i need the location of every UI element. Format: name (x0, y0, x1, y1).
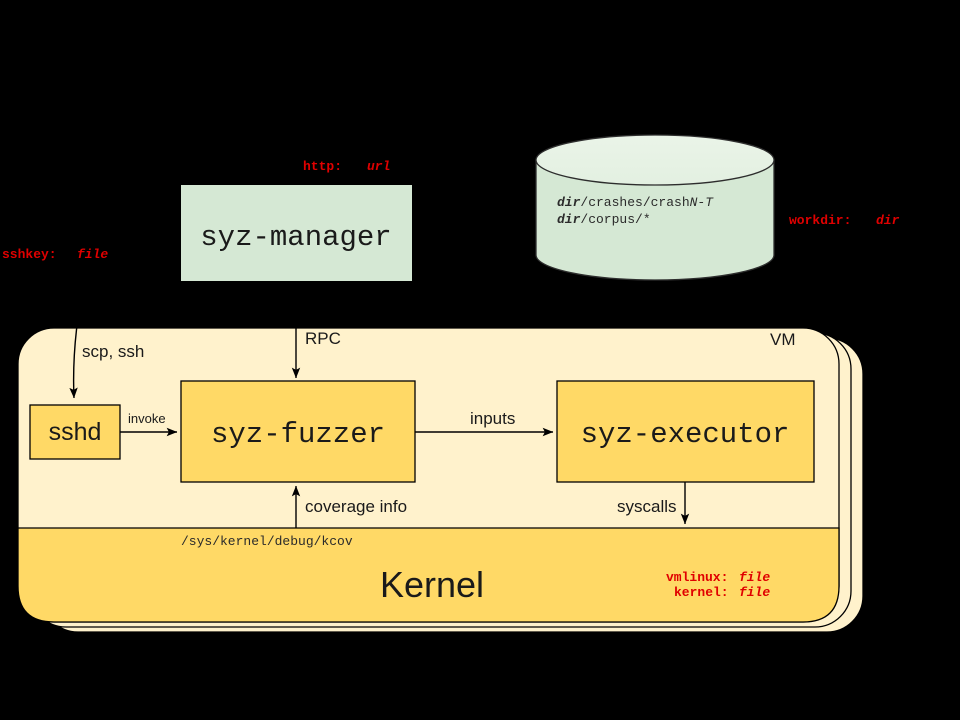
syz-manager-label: syz-manager (200, 221, 391, 254)
cylinder-top (536, 135, 774, 185)
workdir-corpus-line: dir/corpus/* (557, 212, 651, 227)
edge-inputs-label: inputs (470, 409, 515, 428)
diagram-canvas: /sys/kernel/debug/kcov Kernel vmlinux: f… (0, 0, 960, 720)
edge-syscalls-label: syscalls (617, 497, 677, 516)
workdir-crashes-line: dir/crashes/crashN-T (557, 195, 714, 210)
syzkaller-architecture-diagram: /sys/kernel/debug/kcov Kernel vmlinux: f… (0, 0, 960, 720)
workdir-flag-key: workdir: (789, 213, 851, 228)
vmlinux-flag-value: file (739, 570, 770, 585)
workdir-crashes-dir: dir (557, 195, 581, 210)
workdir-corpus-dir: dir (557, 212, 581, 227)
workdir-corpus-rest: /corpus/* (580, 212, 650, 227)
sshkey-flag-key: sshkey: (2, 247, 57, 262)
workdir-crashes-rest: /crashes/crash (580, 195, 689, 210)
kernel-flag-value: file (739, 585, 770, 600)
sshd-label: sshd (49, 418, 102, 446)
http-flag-value: url (367, 159, 390, 174)
sshkey-flag-value: file (77, 247, 108, 262)
syz-executor-label: syz-executor (581, 418, 790, 451)
kcov-path-label: /sys/kernel/debug/kcov (181, 534, 353, 549)
edge-coverage-info-label: coverage info (305, 497, 407, 516)
edge-rpc-label: RPC (305, 329, 341, 348)
vmlinux-flag-key: vmlinux: (666, 570, 728, 585)
workdir-flag-value: dir (876, 213, 900, 228)
edge-invoke-label: invoke (128, 411, 166, 426)
workdir-crashes-suffix: N-T (690, 195, 715, 210)
edge-scp-ssh-label: scp, ssh (82, 342, 144, 361)
kernel-flag-key: kernel: (674, 585, 729, 600)
syz-fuzzer-label: syz-fuzzer (211, 418, 385, 451)
http-flag-key: http: (303, 159, 342, 174)
kernel-label: Kernel (380, 564, 484, 605)
vm-label: VM (770, 330, 796, 349)
